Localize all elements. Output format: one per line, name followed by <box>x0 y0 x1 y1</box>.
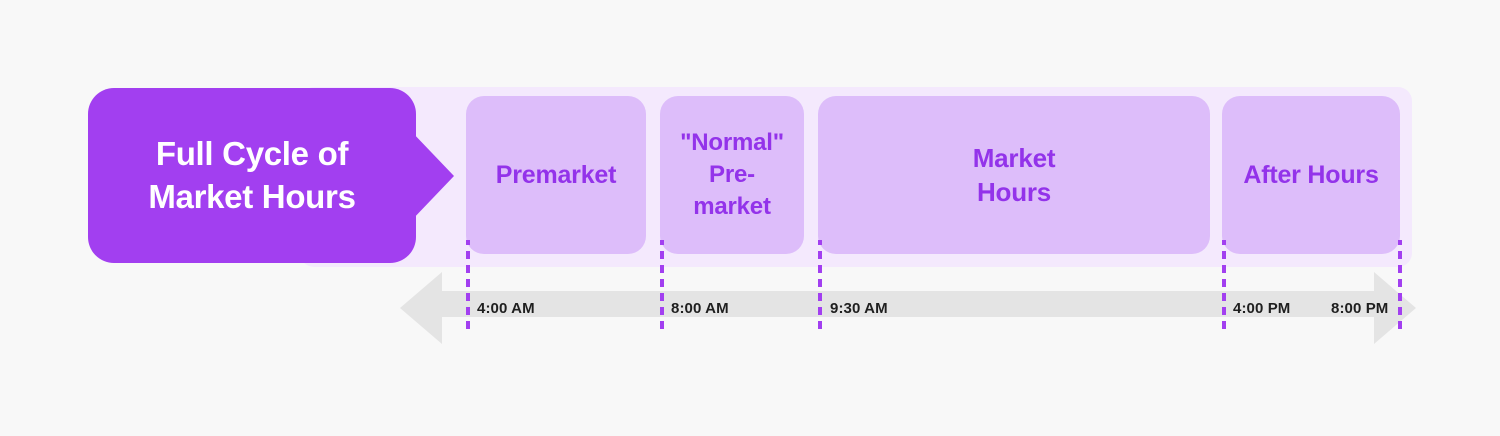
phase-label-after-hours: After Hours <box>1243 159 1378 192</box>
time-label-0400pm: 4:00 PM <box>1233 300 1290 317</box>
tick-line-0930am <box>818 240 822 332</box>
phase-label-premarket: Premarket <box>496 159 617 192</box>
badge-pointer-arrow <box>410 130 454 222</box>
phase-box-premarket[interactable]: Premarket <box>466 96 646 254</box>
title-badge-text: Full Cycle of Market Hours <box>148 133 355 217</box>
time-label-0930am: 9:30 AM <box>830 300 888 317</box>
tick-line-0400am <box>466 240 470 332</box>
time-label-0400am: 4:00 AM <box>477 300 535 317</box>
title-badge: Full Cycle of Market Hours <box>88 88 416 263</box>
time-label-0800pm: 8:00 PM <box>1331 300 1388 317</box>
phase-box-market-hours[interactable]: Market Hours <box>818 96 1210 254</box>
tick-line-0400pm <box>1222 240 1226 332</box>
phase-label-market-hours: Market Hours <box>973 141 1056 210</box>
diagram-canvas: Premarket "Normal" Pre- market Market Ho… <box>0 0 1500 436</box>
phase-label-normal-premarket: "Normal" Pre- market <box>680 127 784 222</box>
tick-line-0800am <box>660 240 664 332</box>
tick-line-0800pm <box>1398 240 1402 332</box>
time-label-0800am: 8:00 AM <box>671 300 729 317</box>
phase-box-after-hours[interactable]: After Hours <box>1222 96 1400 254</box>
phase-box-normal-premarket[interactable]: "Normal" Pre- market <box>660 96 804 254</box>
